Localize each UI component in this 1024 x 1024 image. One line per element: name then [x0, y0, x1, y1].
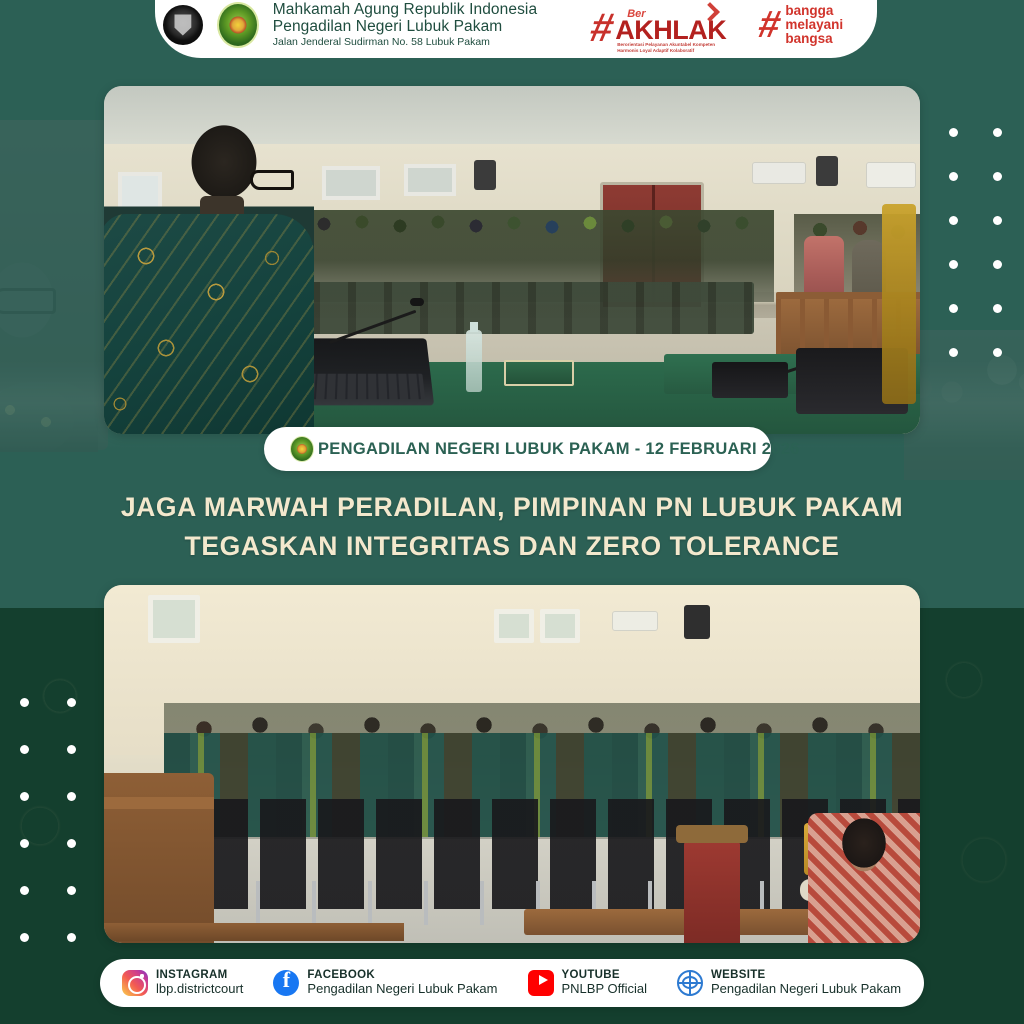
decor-dot [993, 172, 1002, 181]
bangga-melayani-bangsa-logo: # bangga melayani bangsa [759, 1, 869, 49]
decor-dot [20, 839, 29, 848]
photo-top-scene [104, 86, 920, 434]
akhlak-logo: # Ber AKHLAK Berorientasi Pelayanan Akun… [591, 0, 723, 50]
decor-dot [67, 698, 76, 707]
social-handle: lbp.districtcourt [156, 982, 243, 997]
decor-dot [949, 304, 958, 313]
social-item-facebook[interactable]: FACEBOOK Pengadilan Negeri Lubuk Pakam [273, 969, 497, 996]
scene-air-conditioner [612, 611, 658, 631]
social-item-website[interactable]: WEBSITE Pengadilan Negeri Lubuk Pakam [677, 969, 901, 996]
bangga-line3: bangsa [785, 32, 843, 46]
decor-dot [67, 839, 76, 848]
decor-dot-grid-right [949, 128, 1002, 357]
header-content: Mahkamah Agung Republik Indonesia Pengad… [163, 0, 869, 52]
decor-dot [20, 745, 29, 754]
decor-dot [993, 348, 1002, 357]
scene-speaker-box [684, 605, 710, 639]
scene-wooden-railing [104, 773, 214, 943]
scene-window [404, 164, 456, 196]
social-item-instagram[interactable]: INSTAGRAM lbp.districtcourt [122, 969, 243, 996]
headline-line1: JAGA MARWAH PERADILAN, PIMPINAN PN LUBUK… [62, 488, 962, 527]
social-handle: Pengadilan Negeri Lubuk Pakam [307, 982, 497, 997]
social-handle: PNLBP Official [562, 982, 648, 997]
scene-window [540, 609, 580, 643]
social-labels: WEBSITE Pengadilan Negeri Lubuk Pakam [711, 969, 901, 996]
ghost-glasses-icon [0, 288, 56, 314]
decor-dot [20, 792, 29, 801]
decor-dot [67, 933, 76, 942]
supreme-court-seal-icon [163, 5, 203, 45]
scene-red-post [684, 839, 740, 943]
globe-icon [677, 970, 703, 996]
scene-monitor [712, 362, 788, 398]
headline-line2: TEGASKAN INTEGRITAS DAN ZERO TOLERANCE [62, 527, 962, 566]
header-title-line1: Mahkamah Agung Republik Indonesia [273, 1, 537, 18]
scene-window [494, 609, 534, 643]
social-handle: Pengadilan Negeri Lubuk Pakam [711, 982, 901, 997]
header-bar: Mahkamah Agung Republik Indonesia Pengad… [155, 0, 877, 58]
header-titles: Mahkamah Agung Republik Indonesia Pengad… [273, 1, 537, 49]
scene-foreground-person [808, 813, 920, 943]
social-labels: YOUTUBE PNLBP Official [562, 969, 648, 996]
header-title-line2: Pengadilan Negeri Lubuk Pakam [273, 18, 537, 35]
decor-dot [20, 933, 29, 942]
scene-air-conditioner [752, 162, 806, 184]
mahkamah-agung-emblem-icon [217, 2, 259, 48]
photo-bottom [104, 585, 920, 943]
social-labels: FACEBOOK Pengadilan Negeri Lubuk Pakam [307, 969, 497, 996]
decor-dot [20, 698, 29, 707]
social-footer: INSTAGRAM lbp.districtcourt FACEBOOK Pen… [100, 959, 924, 1007]
instagram-icon [122, 970, 148, 996]
date-badge-text: PENGADILAN NEGERI LUBUK PAKAM - 12 FEBRU… [318, 440, 800, 459]
photo-bottom-scene [104, 585, 920, 943]
decor-dot-grid-left [20, 698, 76, 942]
bangga-lines: bangga melayani bangsa [785, 4, 843, 47]
scene-green-folder [504, 360, 574, 386]
akhlak-hash: # [587, 8, 618, 48]
scene-speaker-box [474, 160, 496, 190]
bangga-hash: # [755, 6, 784, 44]
decor-dot [949, 172, 958, 181]
decor-dot [949, 260, 958, 269]
header-address: Jalan Jenderal Sudirman No. 58 Lubuk Pak… [273, 37, 537, 49]
scene-official-batik-shirt [104, 214, 314, 434]
scene-wooden-beam [104, 923, 404, 941]
scene-flag [882, 204, 916, 404]
akhlak-tagline: Berorientasi Pelayanan Akuntabel Kompete… [617, 42, 723, 53]
bangga-line1: bangga [785, 4, 843, 18]
scene-air-conditioner [866, 162, 916, 188]
photo-top [104, 86, 920, 434]
decor-dot [993, 304, 1002, 313]
decor-dot [67, 886, 76, 895]
decor-dot [949, 128, 958, 137]
scene-water-bottle [466, 330, 482, 392]
social-item-youtube[interactable]: YOUTUBE PNLBP Official [528, 969, 648, 996]
youtube-icon [528, 970, 554, 996]
decor-dot [949, 348, 958, 357]
scene-speaking-official [104, 118, 314, 434]
decor-dot [20, 886, 29, 895]
scene-speaker-box [816, 156, 838, 186]
scene-microphone [330, 300, 422, 344]
scene-window [148, 595, 200, 643]
social-labels: INSTAGRAM lbp.districtcourt [156, 969, 243, 996]
poster-canvas: Mahkamah Agung Republik Indonesia Pengad… [0, 0, 1024, 1024]
decor-dot [949, 216, 958, 225]
page-title: JAGA MARWAH PERADILAN, PIMPINAN PN LUBUK… [62, 488, 962, 566]
court-emblem-icon [290, 436, 314, 462]
decor-dot [993, 260, 1002, 269]
scene-official-glasses-icon [250, 170, 294, 190]
decor-dot [993, 128, 1002, 137]
date-badge: PENGADILAN NEGERI LUBUK PAKAM - 12 FEBRU… [264, 427, 771, 471]
scene-window [322, 166, 380, 200]
decor-dot [67, 792, 76, 801]
decor-dot [67, 745, 76, 754]
bangga-line2: melayani [785, 18, 843, 32]
decor-dot [993, 216, 1002, 225]
facebook-icon [273, 970, 299, 996]
